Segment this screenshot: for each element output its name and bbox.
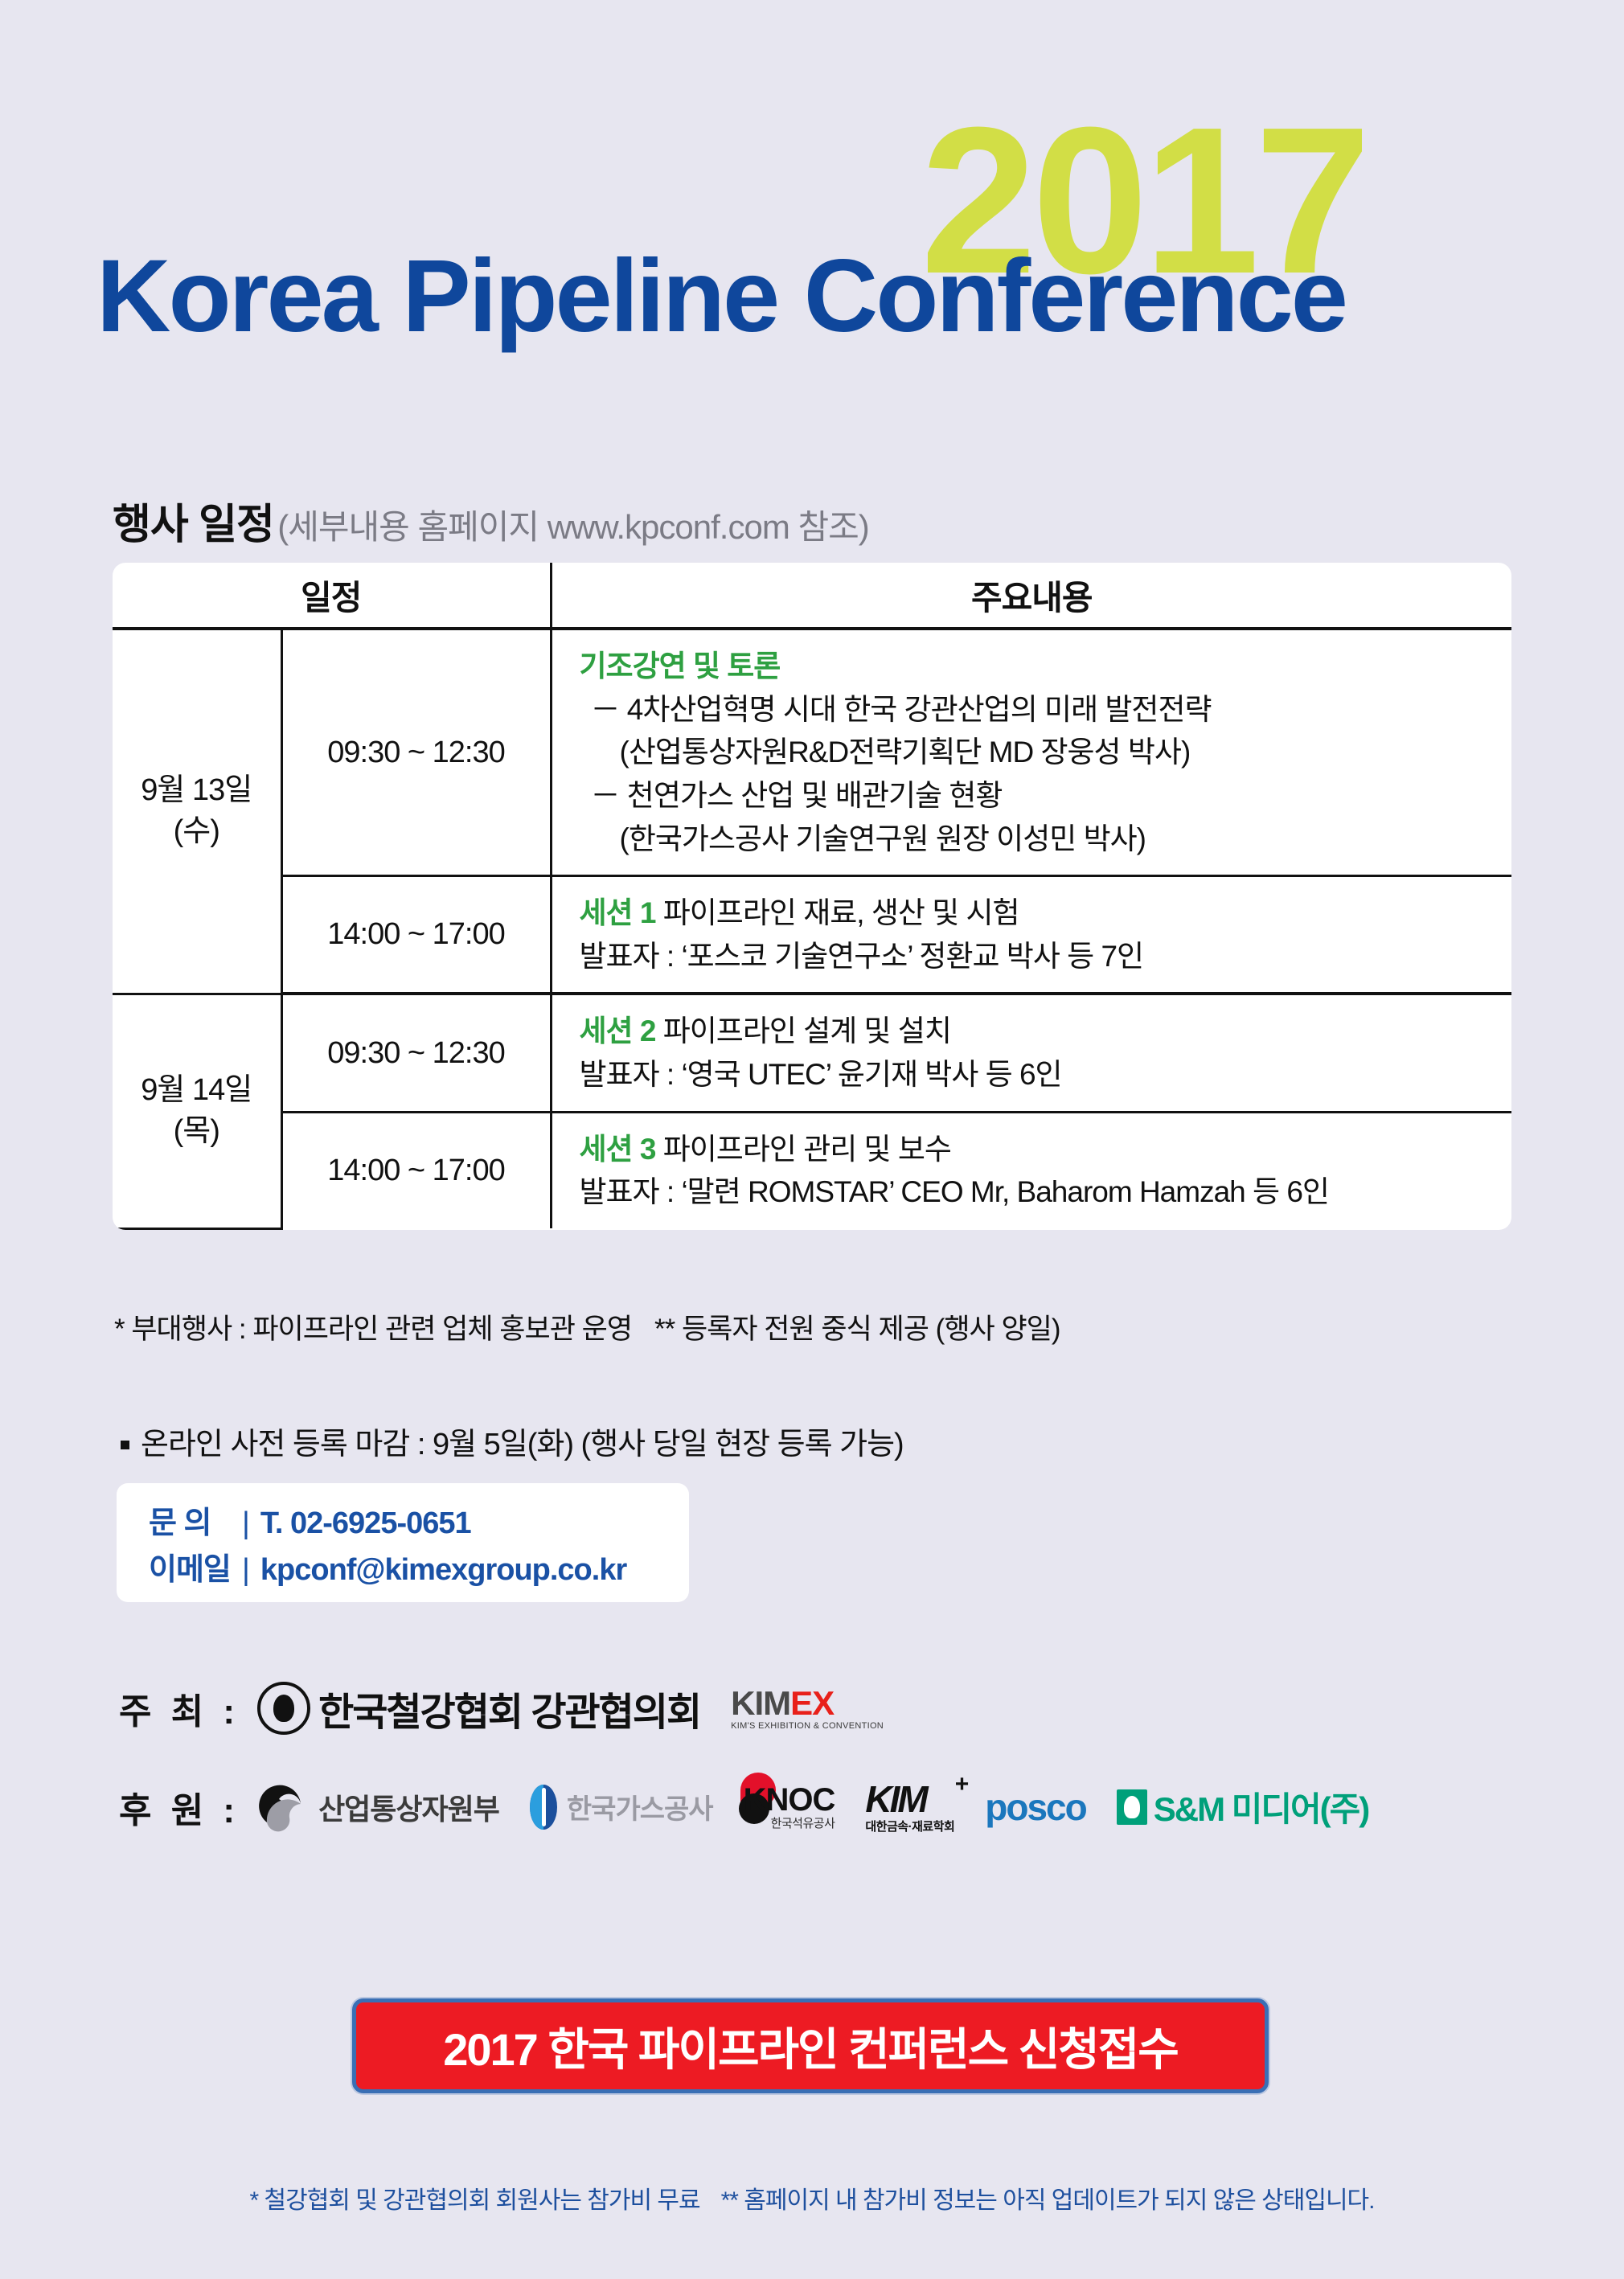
- footer-note: * 철강협회 및 강관협의회 회원사는 참가비 무료** 홈페이지 내 참가비 …: [0, 2180, 1624, 2215]
- kim-logo-text: KIM: [865, 1778, 925, 1820]
- schedule-heading: 행사 일정 (세부내용 홈페이지 www.kpconf.com 참조): [113, 490, 869, 551]
- note-lunch-text: ** 등록자 전원 중식 제공 (행사 양일): [654, 1314, 1060, 1345]
- kosa-logo: 한국철강협회 강관협의회: [257, 1680, 700, 1736]
- column-header-content: 주요내용: [551, 563, 1511, 629]
- date-line-2: (목): [113, 1111, 281, 1152]
- square-bullet-icon: [121, 1441, 129, 1449]
- session2-label: 세션 2: [580, 1014, 656, 1047]
- session2-line: 세션 2 파이프라인 설계 및 설치: [580, 1010, 1504, 1053]
- column-header-date: 일정: [113, 563, 551, 629]
- keynote-line-2: (산업통상자원R&D전략기획단 MD 장웅성 박사): [580, 731, 1504, 774]
- note-registration-deadline: 온라인 사전 등록 마감 : 9월 5일(화) (행사 당일 현장 등록 가능): [121, 1419, 904, 1463]
- cell-time-0930-1230-day2: 09:30 ~ 12:30: [281, 994, 551, 1112]
- cell-time-1400-1700-day2: 14:00 ~ 17:00: [281, 1112, 551, 1228]
- session1-presenter: 발표자 : ‘포스코 기술연구소’ 정환교 박사 등 7인: [580, 935, 1504, 978]
- keynote-line-4: (한국가스공사 기술연구원 원장 이성민 박사): [580, 818, 1504, 861]
- session1-topic: 파이프라인 재료, 생산 및 시험: [663, 896, 1019, 929]
- table-row: 9월 13일 (수) 09:30 ~ 12:30 기조강연 및 토론 － 4차산…: [113, 629, 1511, 876]
- poster-root: 2017 Korea Pipeline Conference 행사 일정 (세부…: [0, 0, 1624, 2279]
- keynote-title: 기조강연 및 토론: [580, 645, 1504, 688]
- contact-divider: |: [239, 1547, 260, 1594]
- note-side-events: * 부대행사 : 파이프라인 관련 업체 홍보관 운영** 등록자 전원 중식 …: [114, 1306, 1060, 1347]
- kosa-emblem-icon: [257, 1682, 310, 1735]
- schedule-heading-main: 행사 일정: [113, 502, 274, 548]
- sm-media-logo: S&M 미디어(주): [1117, 1782, 1369, 1831]
- posco-logo: posco: [985, 1785, 1085, 1829]
- cell-date-sep14: 9월 14일 (목): [113, 994, 281, 1228]
- register-button-label: 2017 한국 파이프라인 컨퍼런스 신청접수: [443, 2014, 1178, 2079]
- cell-time-1400-1700-day1: 14:00 ~ 17:00: [281, 876, 551, 994]
- cell-date-sep13: 9월 13일 (수): [113, 629, 281, 994]
- cell-content-session2: 세션 2 파이프라인 설계 및 설치 발표자 : ‘영국 UTEC’ 윤기재 박…: [551, 994, 1511, 1112]
- kimex-logo: KIMEX KIM'S EXHIBITION & CONVENTION: [731, 1687, 884, 1731]
- kogas-mark-icon: [530, 1785, 557, 1830]
- sponsor-row: 후 원 : 산업통상자원부 한국가스공사 KNOC: [119, 1781, 1399, 1833]
- posco-logo-text: posco: [985, 1785, 1085, 1829]
- kogas-logo: 한국가스공사: [530, 1785, 713, 1830]
- sponsor-label: 후 원 :: [119, 1781, 240, 1833]
- knoc-logo-text: KNOC: [744, 1782, 835, 1818]
- sm-media-logo-text: S&M 미디어(주): [1154, 1782, 1369, 1831]
- contact-email-value[interactable]: kpconf@kimexgroup.co.kr: [260, 1553, 626, 1587]
- register-button[interactable]: 2017 한국 파이프라인 컨퍼런스 신청접수: [352, 1998, 1269, 2093]
- contact-phone-label: 문 의: [149, 1501, 239, 1547]
- cell-content-keynote: 기조강연 및 토론 － 4차산업혁명 시대 한국 강관산업의 미래 발전전략 (…: [551, 629, 1511, 876]
- kimex-logo-text-2: EX: [790, 1684, 834, 1722]
- contact-box: 문 의|T. 02-6925-0651 이메일|kpconf@kimexgrou…: [117, 1483, 689, 1602]
- date-line-1: 9월 13일: [113, 770, 281, 811]
- plus-icon: +: [955, 1773, 970, 1797]
- keynote-line-3: － 천연가스 산업 및 배관기술 현황: [580, 774, 1504, 818]
- contact-phone-row: 문 의|T. 02-6925-0651: [149, 1501, 689, 1547]
- kimex-logo-text-1: KIM: [731, 1684, 790, 1722]
- contact-divider: |: [239, 1501, 260, 1547]
- kim-logo: KIM + 대한금속·재료학회: [865, 1781, 954, 1833]
- table-row: 14:00 ~ 17:00 세션 1 파이프라인 재료, 생산 및 시험 발표자…: [113, 876, 1511, 994]
- kim-logo-sub: 대한금속·재료학회: [865, 1821, 954, 1833]
- taegeuk-icon: [257, 1782, 307, 1832]
- session3-topic: 파이프라인 관리 및 보수: [663, 1133, 951, 1166]
- date-line-1: 9월 14일: [113, 1070, 281, 1111]
- schedule-table: 일정 주요내용 9월 13일 (수) 09:30 ~ 12:30 기조강연 및 …: [113, 563, 1511, 1230]
- host-row: 주 최 : 한국철강협회 강관협의회 KIMEX KIM'S EXHIBITIO…: [119, 1680, 914, 1736]
- footer-note-left: * 철강협회 및 강관협의회 회원사는 참가비 무료: [250, 2187, 700, 2214]
- motie-logo-text: 산업통상자원부: [318, 1786, 499, 1828]
- table-header-row: 일정 주요내용: [113, 563, 1511, 629]
- note-side-events-text: * 부대행사 : 파이프라인 관련 업체 홍보관 운영: [114, 1314, 632, 1345]
- knoc-logo: KNOC 한국석유공사: [744, 1784, 835, 1830]
- table-row: 9월 14일 (목) 09:30 ~ 12:30 세션 2 파이프라인 설계 및…: [113, 994, 1511, 1112]
- kogas-logo-text: 한국가스공사: [567, 1787, 713, 1826]
- motie-logo: 산업통상자원부: [257, 1782, 499, 1832]
- contact-email-label: 이메일: [149, 1547, 239, 1594]
- cell-time-0930-1230-day1: 09:30 ~ 12:30: [281, 629, 551, 876]
- session3-line: 세션 3 파이프라인 관리 및 보수: [580, 1128, 1504, 1171]
- cell-content-session1: 세션 1 파이프라인 재료, 생산 및 시험 발표자 : ‘포스코 기술연구소’…: [551, 876, 1511, 994]
- table-row: 14:00 ~ 17:00 세션 3 파이프라인 관리 및 보수 발표자 : ‘…: [113, 1112, 1511, 1228]
- kosa-logo-text: 한국철강협회 강관협의회: [318, 1680, 700, 1736]
- page-title: Korea Pipeline Conference: [96, 245, 1346, 348]
- footer-note-right: ** 홈페이지 내 참가비 정보는 아직 업데이트가 되지 않은 상태입니다.: [721, 2187, 1375, 2214]
- session3-label: 세션 3: [580, 1133, 656, 1166]
- host-label: 주 최 :: [119, 1683, 240, 1734]
- session3-presenter: 발표자 : ‘말련 ROMSTAR’ CEO Mr, Baharom Hamza…: [580, 1170, 1504, 1214]
- note-registration-text: 온라인 사전 등록 마감 : 9월 5일(화) (행사 당일 현장 등록 가능): [141, 1428, 904, 1461]
- kimex-logo-tagline: KIM'S EXHIBITION & CONVENTION: [731, 1722, 884, 1731]
- session2-topic: 파이프라인 설계 및 설치: [663, 1014, 951, 1047]
- keynote-line-1: － 4차산업혁명 시대 한국 강관산업의 미래 발전전략: [580, 688, 1504, 732]
- sm-media-mark-icon: [1117, 1789, 1147, 1825]
- contact-email-row: 이메일|kpconf@kimexgroup.co.kr: [149, 1547, 689, 1594]
- contact-phone-value[interactable]: T. 02-6925-0651: [260, 1506, 471, 1540]
- session1-line: 세션 1 파이프라인 재료, 생산 및 시험: [580, 892, 1504, 935]
- cell-content-session3: 세션 3 파이프라인 관리 및 보수 발표자 : ‘말련 ROMSTAR’ CE…: [551, 1112, 1511, 1228]
- session1-label: 세션 1: [580, 896, 656, 929]
- session2-presenter: 발표자 : ‘영국 UTEC’ 윤기재 박사 등 6인: [580, 1053, 1504, 1096]
- date-line-2: (수): [113, 811, 281, 852]
- schedule-heading-sub: (세부내용 홈페이지 www.kpconf.com 참조): [277, 508, 868, 546]
